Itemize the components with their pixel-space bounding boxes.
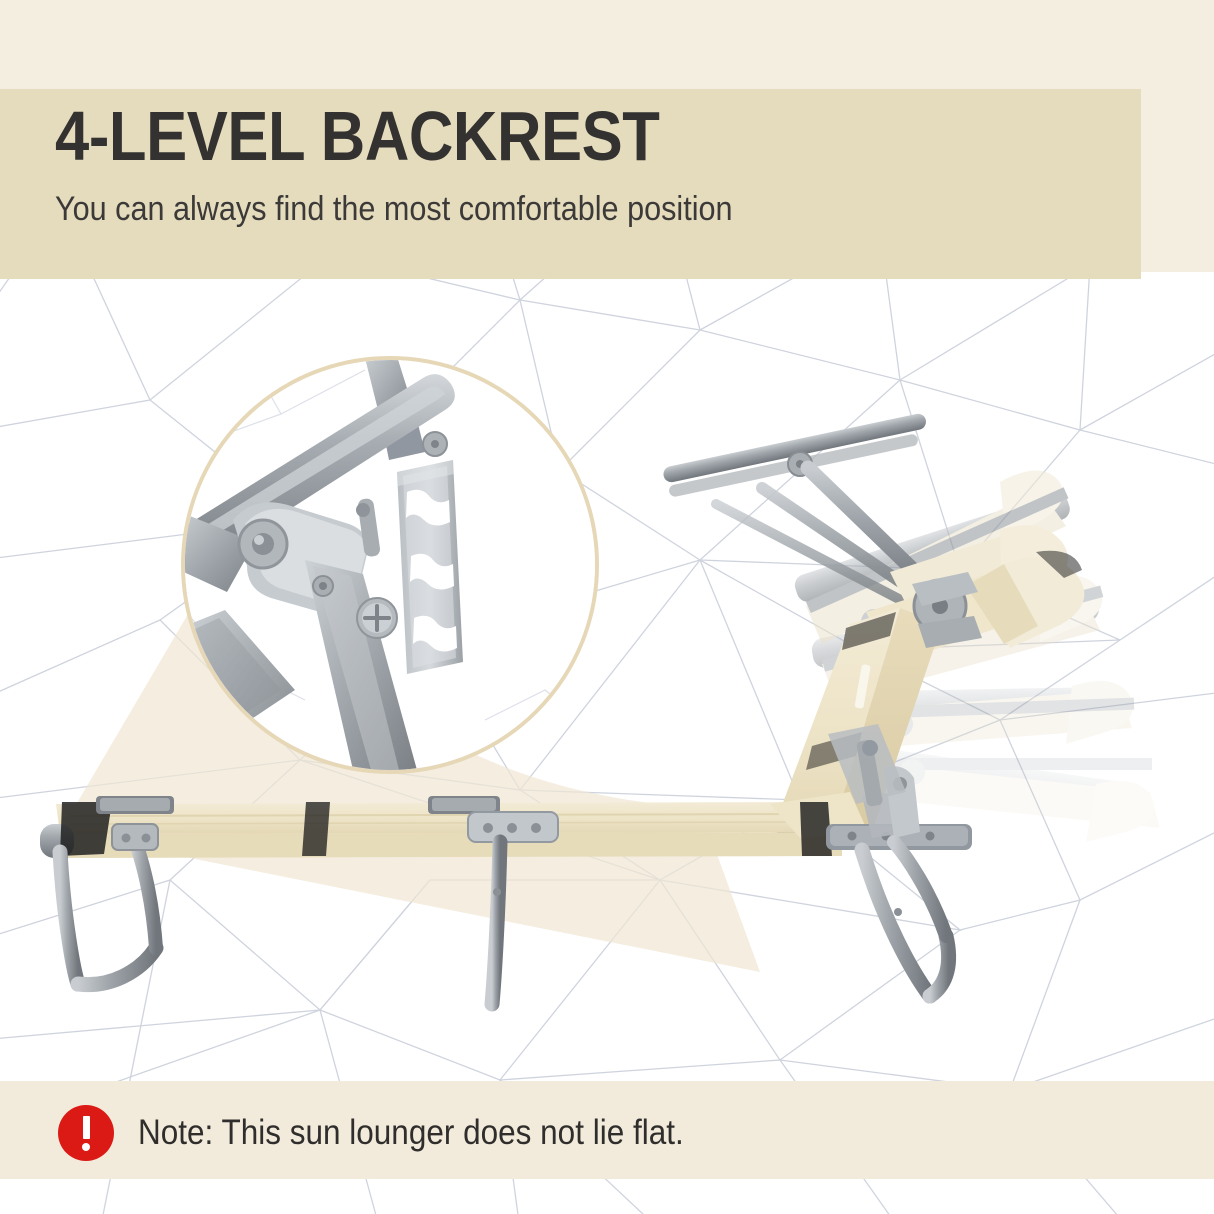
page-subtitle: You can always find the most comfortable…	[55, 173, 1009, 229]
phillips-screw	[357, 598, 397, 638]
note-row: Note: This sun lounger does not lie flat…	[58, 1105, 744, 1161]
exclamation-dot	[82, 1143, 90, 1151]
product-illustration	[0, 272, 1214, 1084]
exclamation-bar	[83, 1116, 90, 1139]
rear-leg	[862, 842, 949, 996]
page-title: 4-LEVEL BACKREST	[55, 99, 988, 173]
four-notch-latch-plate	[397, 460, 463, 674]
exclamation-circle-icon	[58, 1105, 114, 1161]
headrest-bar	[662, 412, 927, 497]
infographic-canvas: 4-LEVEL BACKREST You can always find the…	[0, 0, 1214, 1214]
small-rivet	[313, 576, 333, 596]
header-text-block: 4-LEVEL BACKREST You can always find the…	[55, 99, 1115, 274]
detail-zoom-circle	[181, 356, 599, 774]
note-text: Note: This sun lounger does not lie flat…	[138, 1113, 684, 1153]
